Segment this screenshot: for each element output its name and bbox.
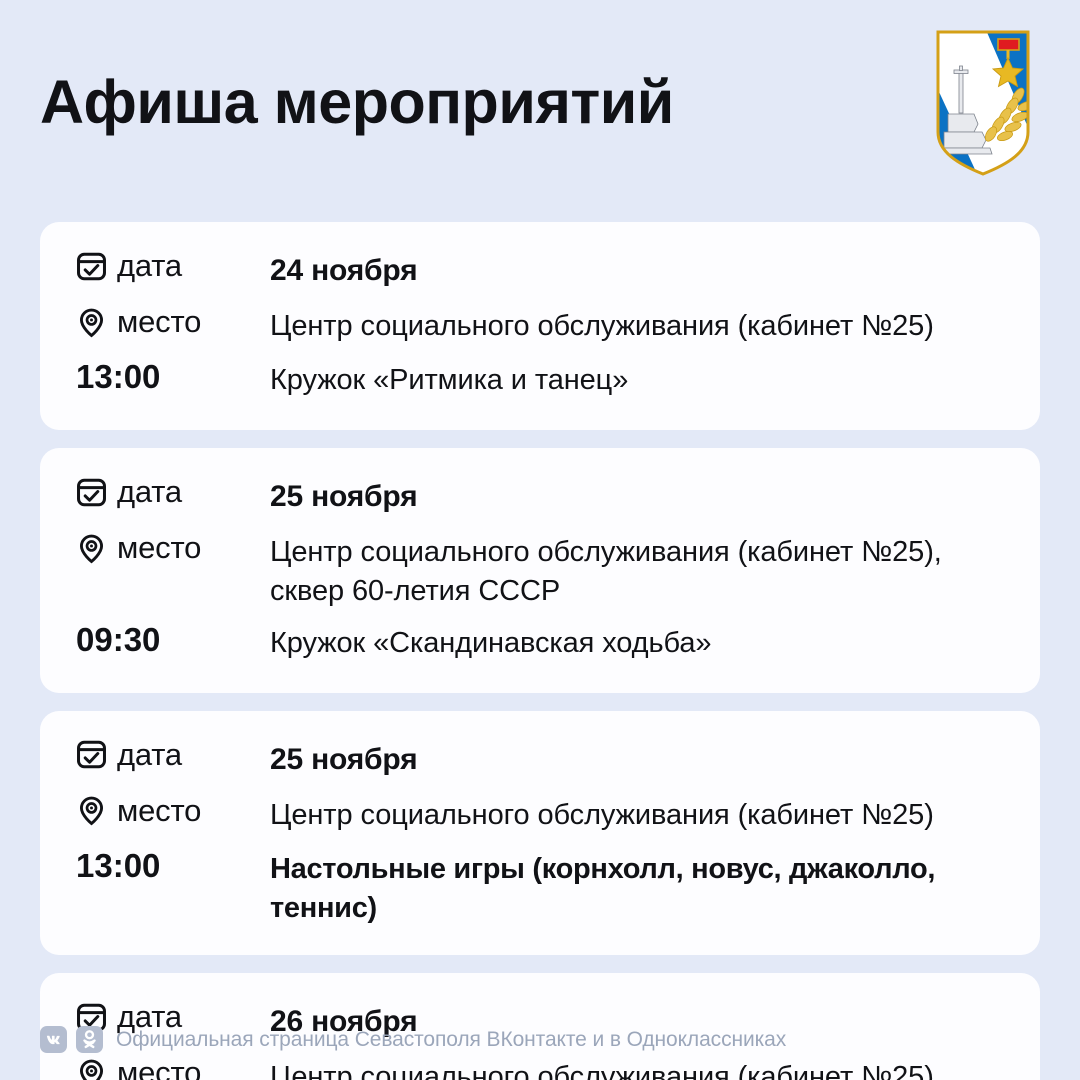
date-label-group: дата — [74, 248, 270, 283]
event-date-value: 24 ноября — [270, 248, 1006, 291]
event-place-row: место Центр социального обслуживания (ка… — [74, 530, 1006, 611]
event-date-row: дата 25 ноября — [74, 737, 1006, 781]
map-pin-icon — [74, 305, 108, 339]
event-title: Кружок «Ритмика и танец» — [270, 358, 1006, 400]
time-label-group: 13:00 — [74, 358, 270, 395]
event-poster: Афиша мероприятий — [0, 0, 1080, 1080]
event-time-row: 09:30 Кружок «Скандинавская ходьба» — [74, 621, 1006, 665]
place-label: место — [117, 305, 201, 339]
place-label: место — [117, 1056, 201, 1080]
date-label: дата — [117, 249, 182, 283]
calendar-check-icon — [74, 738, 108, 772]
event-place-value: Центр социального обслуживания (кабинет … — [270, 304, 1006, 346]
event-title: Настольные игры (корнхолл, новус, джакол… — [270, 847, 1006, 928]
event-place-value: Центр социального обслуживания (кабинет … — [270, 793, 1006, 835]
event-time-row: 13:00 Настольные игры (корнхолл, новус, … — [74, 847, 1006, 928]
time-label-group: 09:30 — [74, 621, 270, 658]
poster-footer: Официальная страница Севастополя ВКонтак… — [40, 1026, 786, 1053]
events-list: дата 24 ноября место Центр социального — [40, 222, 1040, 1080]
place-label-group: место — [74, 1055, 270, 1080]
date-label-group: дата — [74, 737, 270, 772]
event-date-row: дата 25 ноября — [74, 474, 1006, 518]
event-place-row: место Центр социального обслуживания (ка… — [74, 1055, 1006, 1080]
event-title: Кружок «Скандинавская ходьба» — [270, 621, 1006, 663]
map-pin-icon — [74, 794, 108, 828]
vk-icon[interactable] — [40, 1026, 67, 1053]
calendar-check-icon — [74, 249, 108, 283]
place-label: место — [117, 531, 201, 565]
place-label-group: место — [74, 304, 270, 339]
page-title: Афиша мероприятий — [40, 72, 674, 133]
event-place-value: Центр социального обслуживания (кабинет … — [270, 530, 1006, 611]
event-place-row: место Центр социального обслуживания (ка… — [74, 793, 1006, 837]
date-label-group: дата — [74, 474, 270, 509]
poster-header: Афиша мероприятий — [0, 0, 1080, 205]
place-label-group: место — [74, 793, 270, 828]
date-label: дата — [117, 475, 182, 509]
event-place-row: место Центр социального обслуживания (ка… — [74, 304, 1006, 348]
event-card[interactable]: дата 24 ноября место Центр социального — [40, 222, 1040, 430]
date-label: дата — [117, 738, 182, 772]
calendar-check-icon — [74, 475, 108, 509]
place-label-group: место — [74, 530, 270, 565]
event-card[interactable]: дата 25 ноября место Центр социального — [40, 448, 1040, 693]
event-time-row: 13:00 Кружок «Ритмика и танец» — [74, 358, 1006, 402]
map-pin-icon — [74, 531, 108, 565]
odnoklassniki-icon[interactable] — [76, 1026, 103, 1053]
event-time: 13:00 — [74, 848, 160, 884]
event-time: 09:30 — [74, 622, 160, 658]
event-date-row: дата 24 ноября — [74, 248, 1006, 292]
coat-of-arms-sevastopol-icon — [934, 28, 1032, 176]
time-label-group: 13:00 — [74, 847, 270, 884]
place-label: место — [117, 794, 201, 828]
event-date-value: 25 ноября — [270, 474, 1006, 517]
event-date-value: 25 ноября — [270, 737, 1006, 780]
event-time: 13:00 — [74, 359, 160, 395]
event-card[interactable]: дата 25 ноября место Центр социального — [40, 711, 1040, 956]
map-pin-icon — [74, 1056, 108, 1080]
event-place-value: Центр социального обслуживания (кабинет … — [270, 1055, 1006, 1080]
footer-text: Официальная страница Севастополя ВКонтак… — [116, 1028, 786, 1052]
